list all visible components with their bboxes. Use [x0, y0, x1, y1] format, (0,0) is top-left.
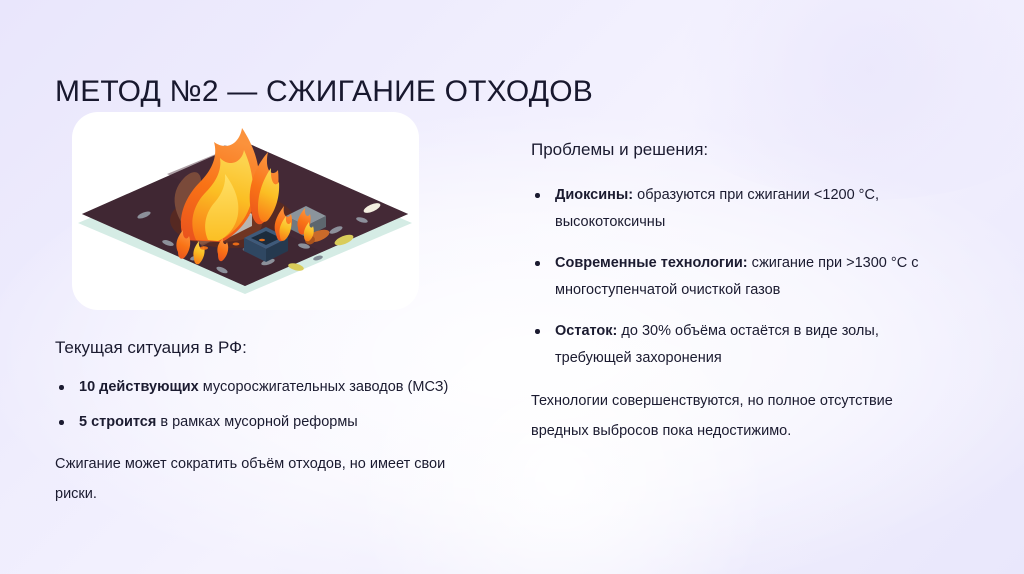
left-section-heading: Текущая ситуация в РФ: — [55, 336, 485, 360]
list-item-strong: 10 действующих — [79, 379, 199, 395]
list-item-rest: в рамках мусорной реформы — [156, 414, 357, 430]
list-item-rest: мусоросжигательных заводов (МСЗ) — [199, 379, 449, 395]
page-title: МЕТОД №2 — СЖИГАНИЕ ОТХОДОВ — [55, 73, 593, 111]
bullet-dot-icon — [535, 193, 540, 198]
list-item-strong: Остаток: — [555, 323, 617, 339]
bullet-dot-icon — [535, 329, 540, 334]
illustration-card — [72, 112, 419, 310]
left-column: Текущая ситуация в РФ: 10 действующих му… — [55, 112, 485, 524]
left-summary-note: Сжигание может сократить объём отходов, … — [55, 449, 475, 509]
burning-waste-dump-icon — [72, 112, 419, 310]
right-column: Проблемы и решения: Диоксины: образуются… — [531, 138, 951, 461]
right-section-heading: Проблемы и решения: — [531, 138, 951, 162]
list-item-strong: Современные технологии: — [555, 255, 748, 271]
slide-root: МЕТОД №2 — СЖИГАНИЕ ОТХОДОВ — [0, 0, 1024, 574]
list-item: 5 строится в рамках мусорной реформы — [55, 409, 485, 435]
left-bullet-list: 10 действующих мусоросжигательных заводо… — [55, 374, 485, 435]
list-item: 10 действующих мусоросжигательных заводо… — [55, 374, 485, 400]
bullet-dot-icon — [535, 261, 540, 266]
list-item: Диоксины: образуются при сжигании <1200 … — [531, 182, 951, 236]
list-item-strong: Диоксины: — [555, 187, 633, 203]
list-item: Современные технологии: сжигание при >13… — [531, 250, 951, 304]
right-bullet-list: Диоксины: образуются при сжигании <1200 … — [531, 182, 951, 372]
right-summary-note: Технологии совершенствуются, но полное о… — [531, 386, 941, 446]
bullet-dot-icon — [59, 420, 64, 425]
bullet-dot-icon — [59, 385, 64, 390]
list-item-strong: 5 строится — [79, 414, 156, 430]
list-item: Остаток: до 30% объёма остаётся в виде з… — [531, 318, 951, 372]
